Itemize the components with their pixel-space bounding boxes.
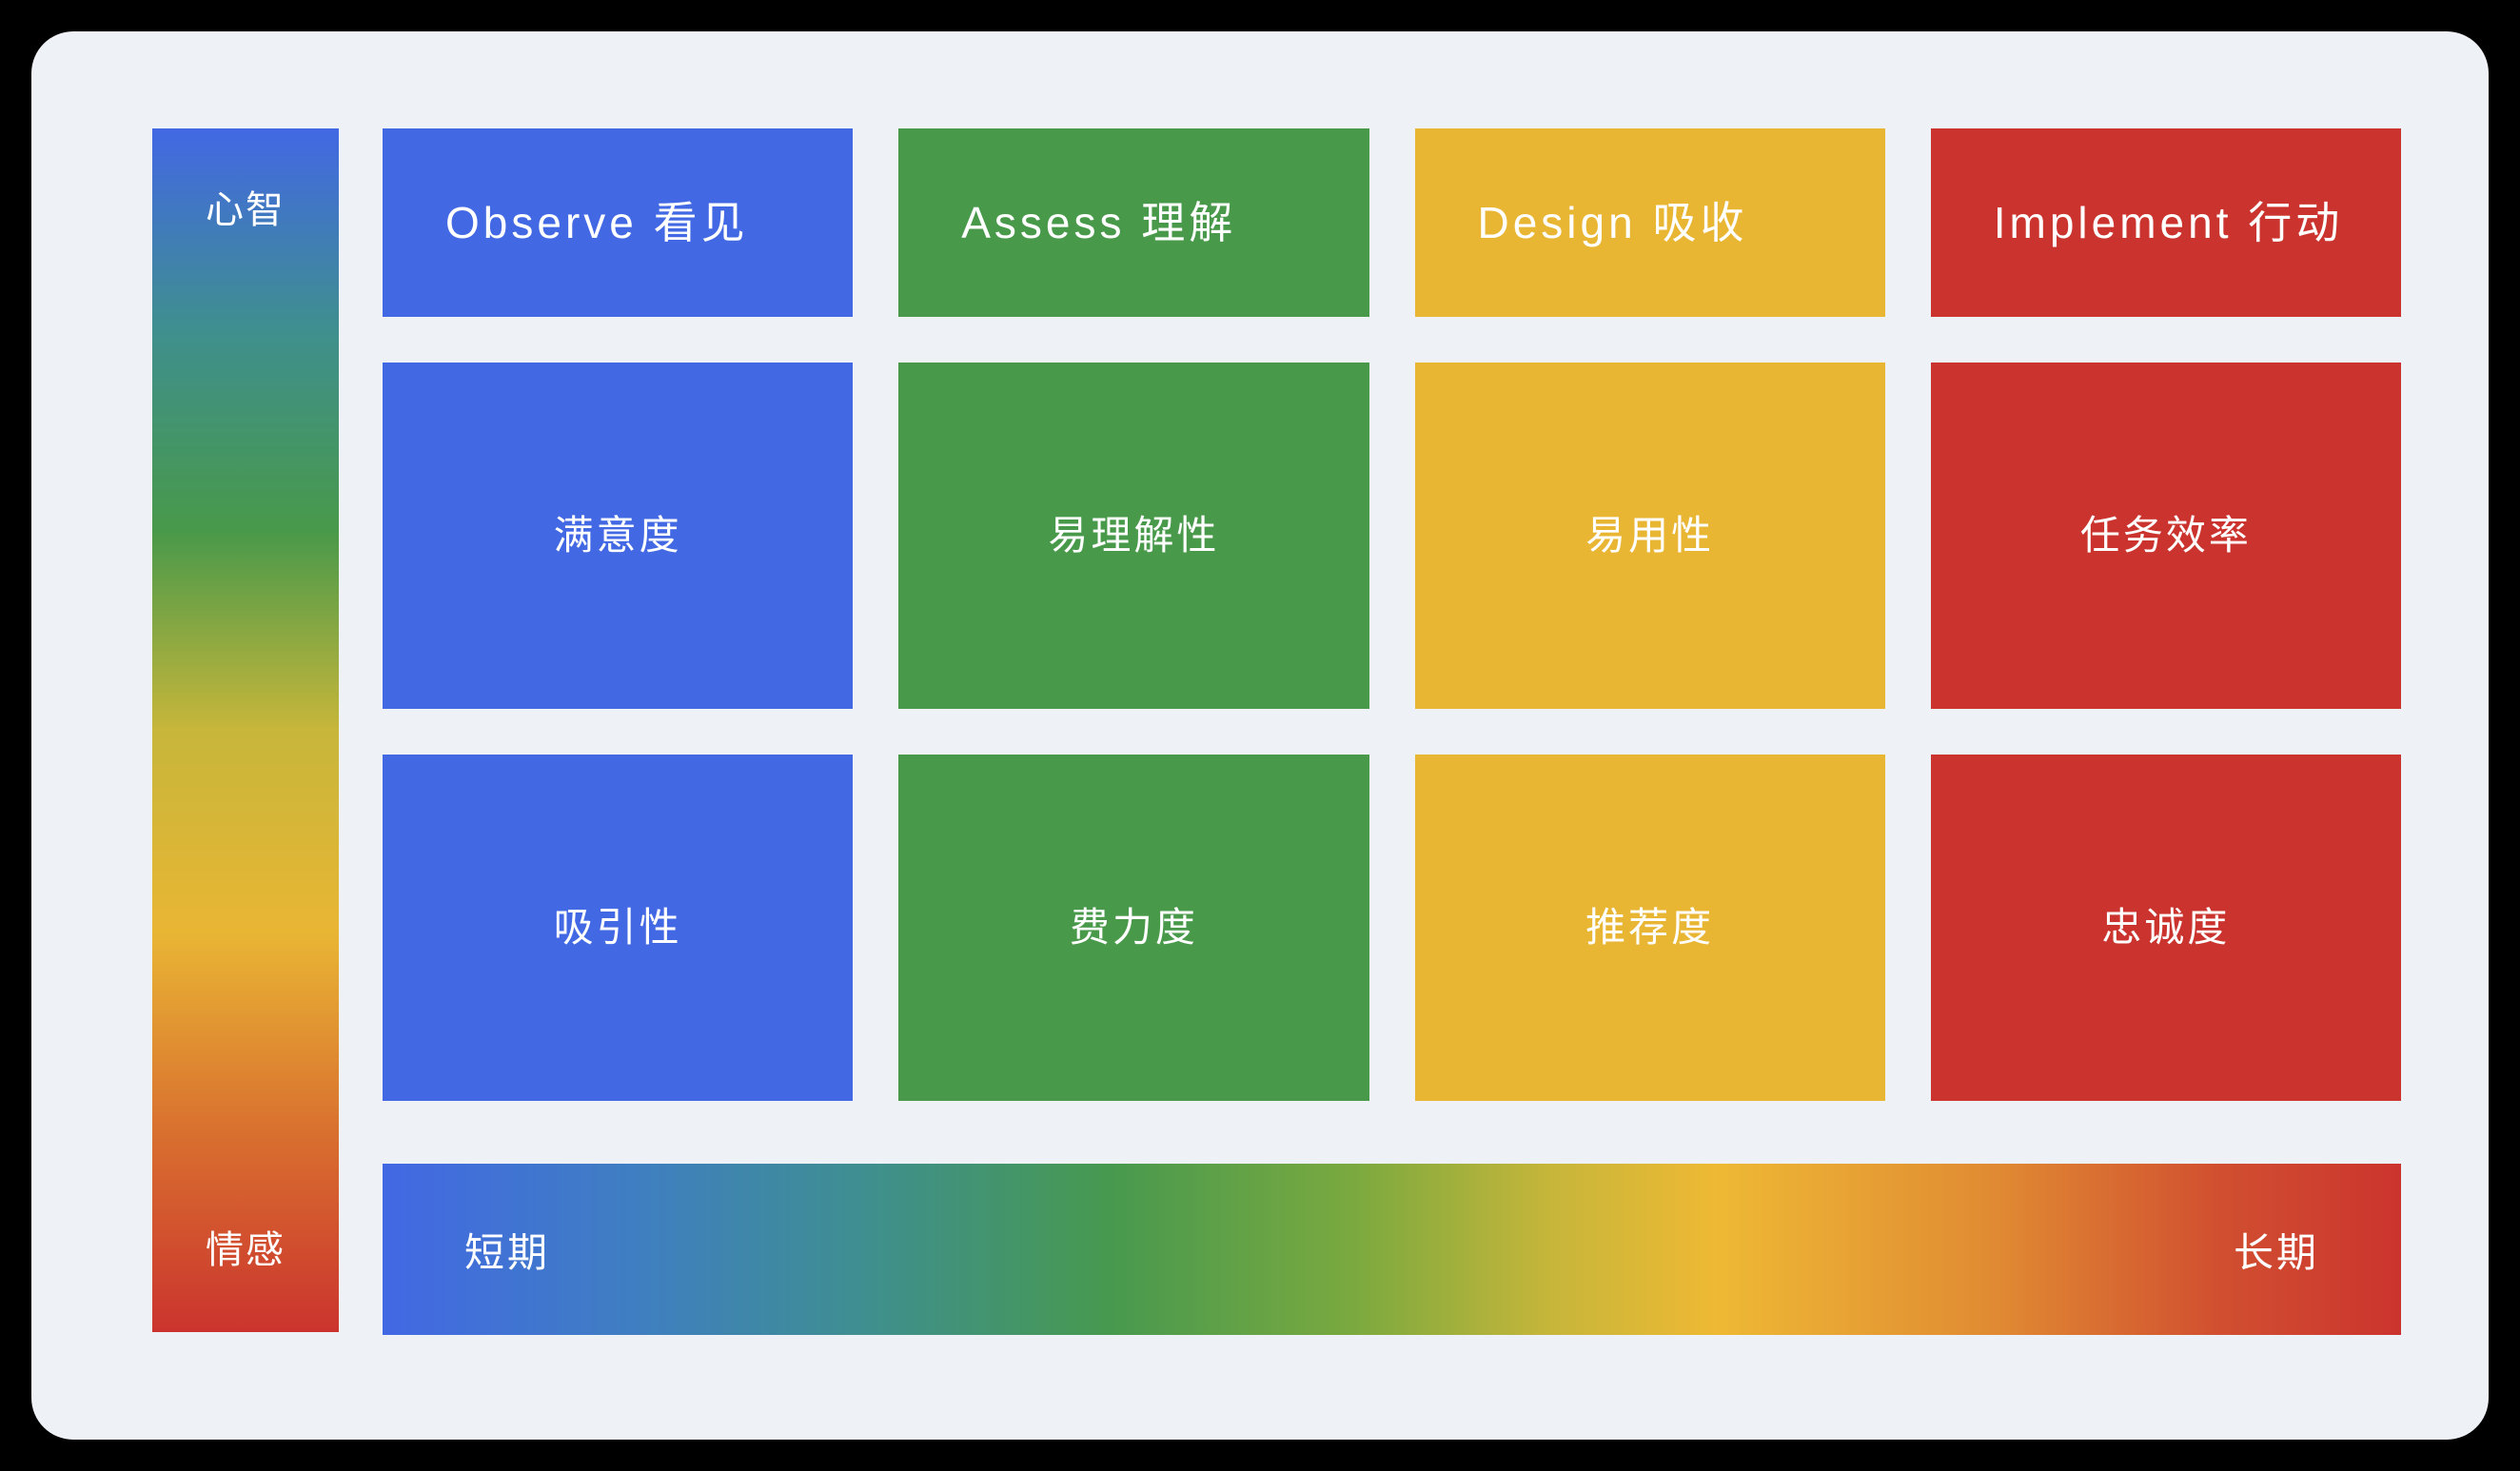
metric-label: 吸引性 [554, 906, 682, 950]
metric-label: 任务效率 [2080, 514, 2252, 558]
metric-label: 易用性 [1585, 514, 1714, 558]
column-header-assess[interactable]: Assess 理解 [898, 128, 1368, 317]
metric-cell[interactable]: 费力度 [898, 755, 1368, 1101]
metric-cell[interactable]: 任务效率 [1931, 363, 2401, 709]
metric-label: 推荐度 [1585, 906, 1714, 950]
metric-cell[interactable]: 吸引性 [383, 755, 853, 1101]
vertical-axis-bar: 心智 情感 [152, 128, 339, 1332]
matrix-grid: Observe 看见 Assess 理解 Design 吸收 Implement… [383, 128, 2401, 1101]
column-header-label: Implement 行动 [1994, 199, 2344, 247]
metric-cell[interactable]: 易理解性 [898, 363, 1368, 709]
metric-cell[interactable]: 忠诚度 [1931, 755, 2401, 1101]
horizontal-axis-bar: 短期 长期 [383, 1164, 2401, 1335]
metric-cell[interactable]: 满意度 [383, 363, 853, 709]
vertical-axis-top-label: 心智 [206, 191, 285, 229]
metric-label: 易理解性 [1048, 514, 1219, 558]
horizontal-axis-end-label: 长期 [2234, 1221, 2319, 1279]
metric-label: 费力度 [1070, 906, 1198, 950]
vertical-axis-bottom-label: 情感 [206, 1231, 285, 1269]
metric-label: 忠诚度 [2101, 906, 2230, 950]
metric-cell[interactable]: 推荐度 [1415, 755, 1885, 1101]
ux-measurement-matrix: 心智 情感 Observe 看见 Assess 理解 Design 吸收 Imp… [152, 128, 2401, 1335]
column-header-design[interactable]: Design 吸收 [1415, 128, 1885, 317]
column-header-observe[interactable]: Observe 看见 [383, 128, 853, 317]
column-header-label: Observe 看见 [445, 199, 749, 247]
column-header-label: Design 吸收 [1478, 199, 1748, 247]
metric-cell[interactable]: 易用性 [1415, 363, 1885, 709]
horizontal-axis-start-label: 短期 [464, 1221, 550, 1279]
column-header-implement[interactable]: Implement 行动 [1931, 128, 2401, 317]
matrix-card: 心智 情感 Observe 看见 Assess 理解 Design 吸收 Imp… [31, 31, 2489, 1440]
metric-label: 满意度 [554, 514, 682, 558]
column-header-label: Assess 理解 [961, 199, 1236, 247]
